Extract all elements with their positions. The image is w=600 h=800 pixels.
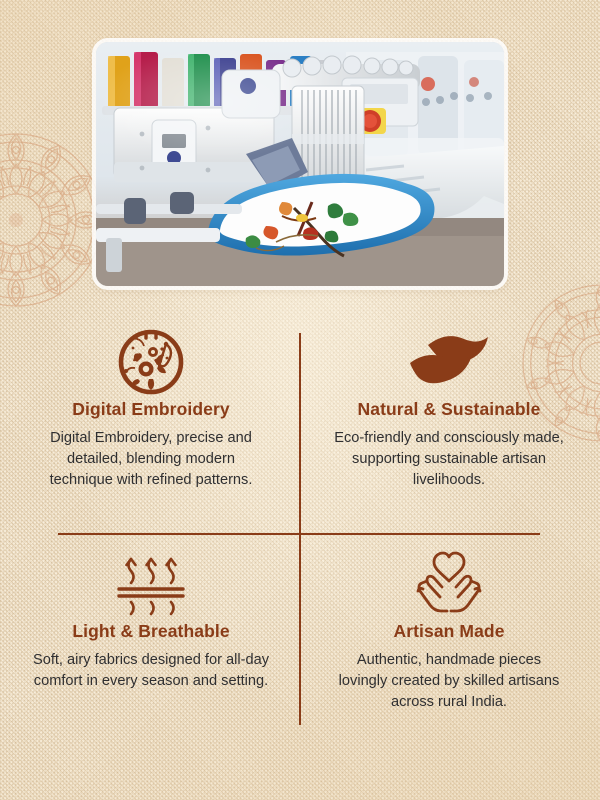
grid-divider-vertical (299, 333, 301, 725)
hands-heart-icon (314, 544, 584, 620)
feature-description: Eco-friendly and consciously made, suppo… (330, 428, 568, 490)
feature-grid: Digital Embroidery Digital Embroidery, p… (0, 312, 600, 742)
leaf-icon (314, 322, 584, 398)
feature-card-natural-sustainable: Natural & Sustainable Eco-friendly and c… (314, 322, 584, 490)
feature-card-digital-embroidery: Digital Embroidery Digital Embroidery, p… (16, 322, 286, 490)
feature-description: Digital Embroidery, precise and detailed… (44, 428, 258, 490)
feature-title: Digital Embroidery (16, 400, 286, 419)
feature-title: Artisan Made (314, 622, 584, 641)
feature-title: Natural & Sustainable (314, 400, 584, 419)
breathable-airflow-icon (16, 544, 286, 620)
feature-card-artisan-made: Artisan Made Authentic, handmade pieces … (314, 544, 584, 712)
embroidery-hoop-icon (16, 322, 286, 398)
grid-divider-horizontal (58, 533, 540, 535)
embroidery-machine-photo (96, 42, 504, 286)
feature-title: Light & Breathable (16, 622, 286, 641)
feature-highlights-page: Digital Embroidery Digital Embroidery, p… (0, 0, 600, 800)
feature-description: Soft, airy fabrics designed for all-day … (29, 650, 273, 691)
feature-card-light-breathable: Light & Breathable Soft, airy fabrics de… (16, 544, 286, 692)
feature-description: Authentic, handmade pieces lovingly crea… (331, 650, 567, 712)
